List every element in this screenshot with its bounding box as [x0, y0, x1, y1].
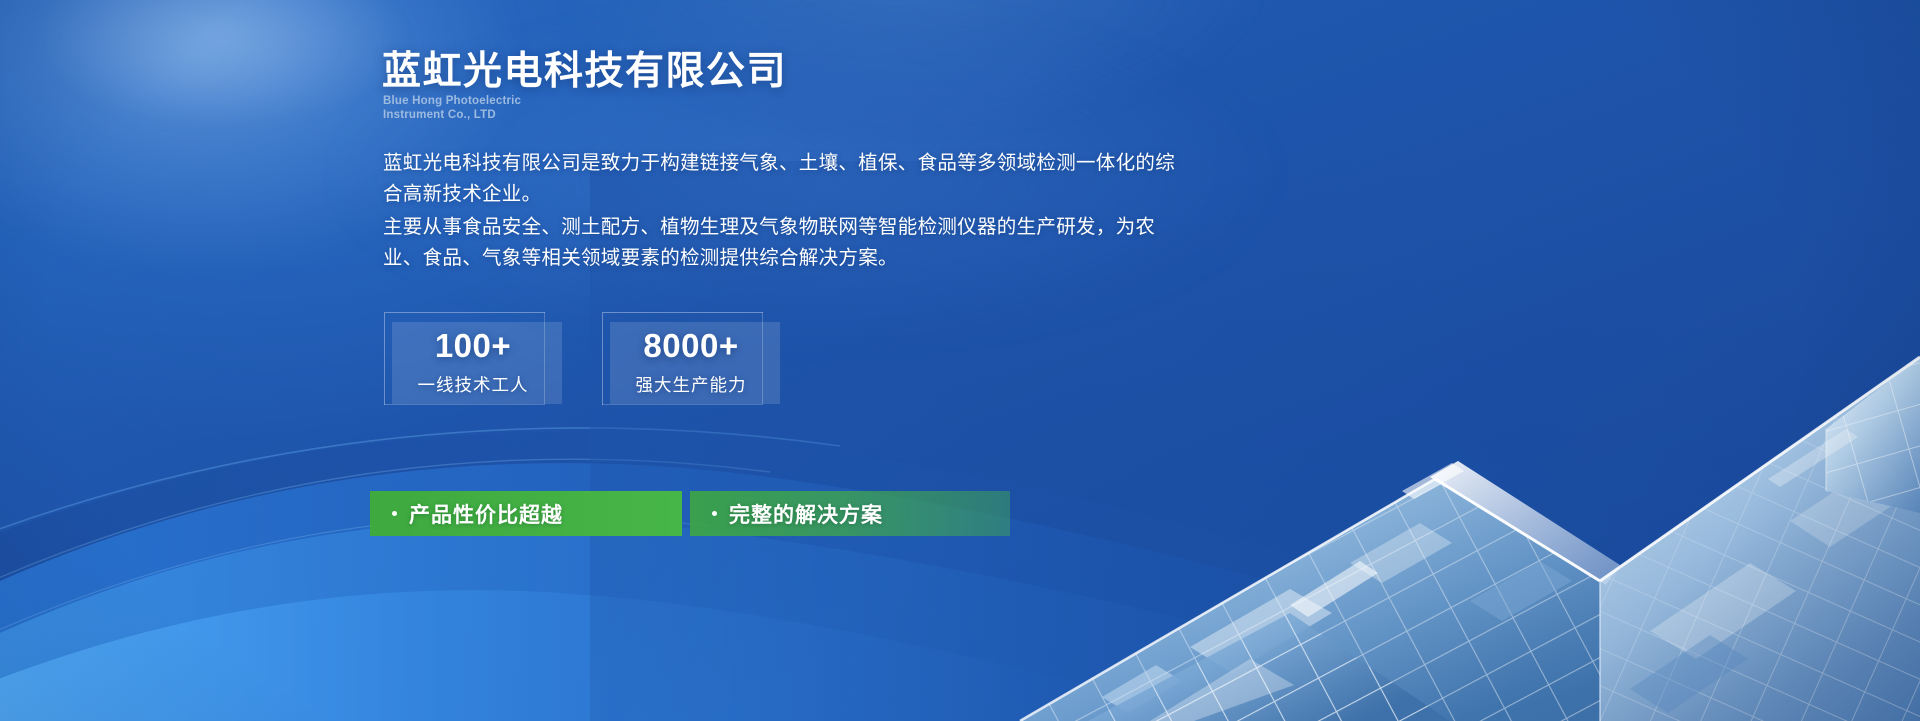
intro-paragraph-2: 主要从事食品安全、测土配方、植物生理及气象物联网等智能检测仪器的生产研发，为农业…: [383, 212, 1183, 274]
subtitle-line-1: Blue Hong Photoelectric: [383, 94, 521, 108]
stats-group: 100+ 一线技术工人 8000+ 强大生产能力: [384, 312, 772, 404]
company-english-subtitle: Blue Hong Photoelectric Instrument Co., …: [383, 94, 521, 122]
feature-tag-solution[interactable]: 完整的解决方案: [690, 491, 1010, 536]
intro-paragraph-1: 蓝虹光电科技有限公司是致力于构建链接气象、土壤、植保、食品等多领域检测一体化的综…: [383, 148, 1183, 210]
stat-label: 强大生产能力: [602, 372, 780, 397]
stat-number: 100+: [384, 326, 562, 366]
feature-tag-label: 产品性价比超越: [409, 499, 563, 529]
bullet-dot-icon: [712, 511, 717, 516]
subtitle-line-2: Instrument Co., LTD: [383, 108, 521, 122]
bullet-dot-icon: [392, 511, 397, 516]
feature-tag-value[interactable]: 产品性价比超越: [370, 491, 682, 536]
stat-label: 一线技术工人: [384, 372, 562, 397]
hero-banner: 蓝虹光电科技有限公司 Blue Hong Photoelectric Instr…: [0, 0, 1920, 721]
stat-card-capacity: 8000+ 强大生产能力: [602, 312, 772, 404]
feature-tags-group: 产品性价比超越 完整的解决方案: [370, 491, 1010, 536]
stat-number: 8000+: [602, 326, 780, 366]
stat-card-workers: 100+ 一线技术工人: [384, 312, 554, 404]
banner-content: 蓝虹光电科技有限公司 Blue Hong Photoelectric Instr…: [0, 0, 1920, 721]
feature-tag-label: 完整的解决方案: [729, 499, 883, 529]
company-title: 蓝虹光电科技有限公司: [382, 40, 787, 96]
